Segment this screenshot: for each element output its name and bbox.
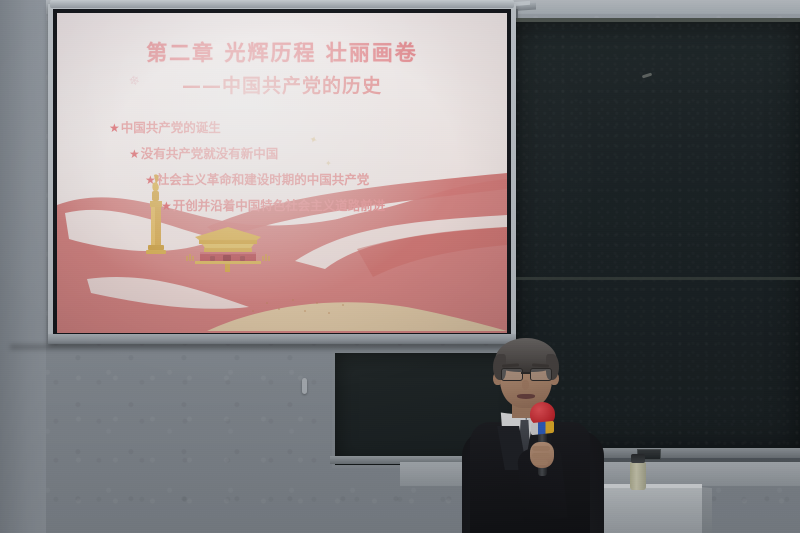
projection-screen: ❄ ✦ ✦ 第二章 光辉历程 壮丽画卷 ——中国共产党的历史 ★中国共产党的诞生…: [48, 4, 516, 344]
wall-left-column: [0, 0, 46, 533]
glasses-bridge: [521, 372, 530, 374]
tiananmen-gate-graphic: [185, 221, 271, 273]
lens-right: [530, 368, 552, 381]
list-item: ★开创并沿着中国特色社会主义道路前进: [161, 195, 507, 214]
lens-left: [501, 368, 523, 381]
list-item: ★中国共产党的诞生: [109, 117, 507, 136]
presentation-slide: ❄ ✦ ✦ 第二章 光辉历程 壮丽画卷 ——中国共产党的历史 ★中国共产党的诞生…: [57, 13, 507, 333]
star-icon: ★: [129, 147, 140, 161]
list-item-label: 开创并沿着中国特色社会主义道路前进: [173, 198, 386, 213]
slide-title: 第二章 光辉历程 壮丽画卷: [57, 37, 507, 67]
wall-hook: [302, 378, 307, 394]
lecture-hall-scene: ❄ ✦ ✦ 第二章 光辉历程 壮丽画卷 ——中国共产党的历史 ★中国共产党的诞生…: [0, 0, 800, 533]
screen-shadow: [10, 344, 510, 350]
eyeglasses-icon: [500, 368, 552, 380]
presenter: [446, 330, 636, 533]
microphone-flag-band: [531, 421, 554, 435]
finger: [532, 453, 550, 458]
finger: [533, 460, 548, 465]
list-item-label: 中国共产党的诞生: [121, 120, 221, 135]
mouth: [517, 394, 535, 399]
slide-bullet-list: ★中国共产党的诞生 ★没有共产党就没有新中国 ★社会主义革命和建设时期的中国共产…: [57, 117, 507, 221]
list-item: ★没有共产党就没有新中国: [129, 143, 507, 162]
slide-subtitle: ——中国共产党的历史: [57, 71, 507, 98]
screen-roller: [50, 0, 514, 8]
finger: [532, 446, 550, 451]
list-item-label: 没有共产党就没有新中国: [141, 146, 279, 161]
star-icon: ★: [109, 121, 120, 135]
blackboard-panel-divider: [516, 277, 800, 280]
nose: [522, 380, 529, 390]
list-item-label: 社会主义革命和建设时期的中国共产党: [157, 172, 370, 187]
torch-column-graphic: [145, 173, 167, 259]
list-item: ★社会主义革命和建设时期的中国共产党: [145, 169, 507, 188]
